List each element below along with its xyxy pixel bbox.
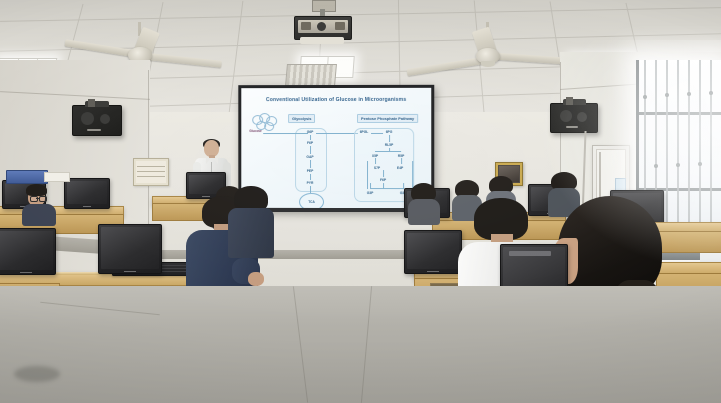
eyeglasses: [30, 196, 46, 201]
white-paper-stack: [44, 172, 70, 182]
slide-glucose-label: Glucose: [249, 129, 262, 133]
speaker-bracket-left: [88, 99, 95, 107]
blue-box-on-desk: [6, 170, 48, 184]
slide-title: Conventional Utilization of Glucose in M…: [241, 97, 431, 103]
slide-node-6pgl: 6PGL: [360, 130, 369, 134]
slide-node-s7p: S7P: [374, 166, 380, 170]
monitor-mid-left-1: [0, 228, 56, 275]
slide-node-pep: PEP: [307, 169, 314, 173]
ceiling-projector: [286, 0, 356, 48]
monitor-mid-right-1: [404, 230, 462, 274]
slide-node-pyr: PYR: [307, 181, 314, 185]
student-row1-left: [228, 186, 274, 256]
student-hair: [26, 184, 47, 196]
student-glasses-left: [22, 184, 56, 224]
slide-node-g3p-left: G3P: [367, 191, 374, 195]
floor: [0, 286, 721, 403]
student-hand: [248, 272, 264, 286]
student-body: [22, 204, 56, 226]
projector-lens: [317, 22, 326, 31]
ceiling-air-vent: [285, 64, 337, 86]
slide-node-e4p: E4P: [397, 166, 403, 170]
floor-scuff: [14, 366, 60, 382]
ceiling-fan-right: [424, 22, 560, 74]
student-body: [228, 208, 274, 258]
slide-section-ppp: Pentose Phosphate Pathway: [357, 114, 418, 123]
wall-notice-left: [133, 158, 169, 186]
monitor-back-left-2: [64, 178, 110, 209]
wall-speaker-right: [550, 103, 598, 133]
classroom-photo: Conventional Utilization of Glucose in M…: [0, 0, 721, 403]
monitor-mid-left-2: [98, 224, 162, 274]
slide-node-f6p-ppp: F6P: [380, 178, 386, 182]
slide-node-rl5p: RL5P: [385, 143, 393, 147]
slide-section-glycolysis: Glycolysis: [288, 114, 315, 123]
speaker-bracket-right: [566, 97, 573, 105]
slide-node-tca: TCA: [299, 193, 324, 208]
student-body: [408, 199, 440, 225]
monitor-label-strip: [509, 251, 551, 256]
wall-speaker-left: [72, 105, 122, 136]
slide-node-gap: GAP: [306, 155, 313, 159]
slide-node-6pg: 6PG: [386, 130, 393, 134]
slide-node-f6p: F6P: [307, 141, 313, 145]
student-row2-center: [408, 183, 440, 223]
